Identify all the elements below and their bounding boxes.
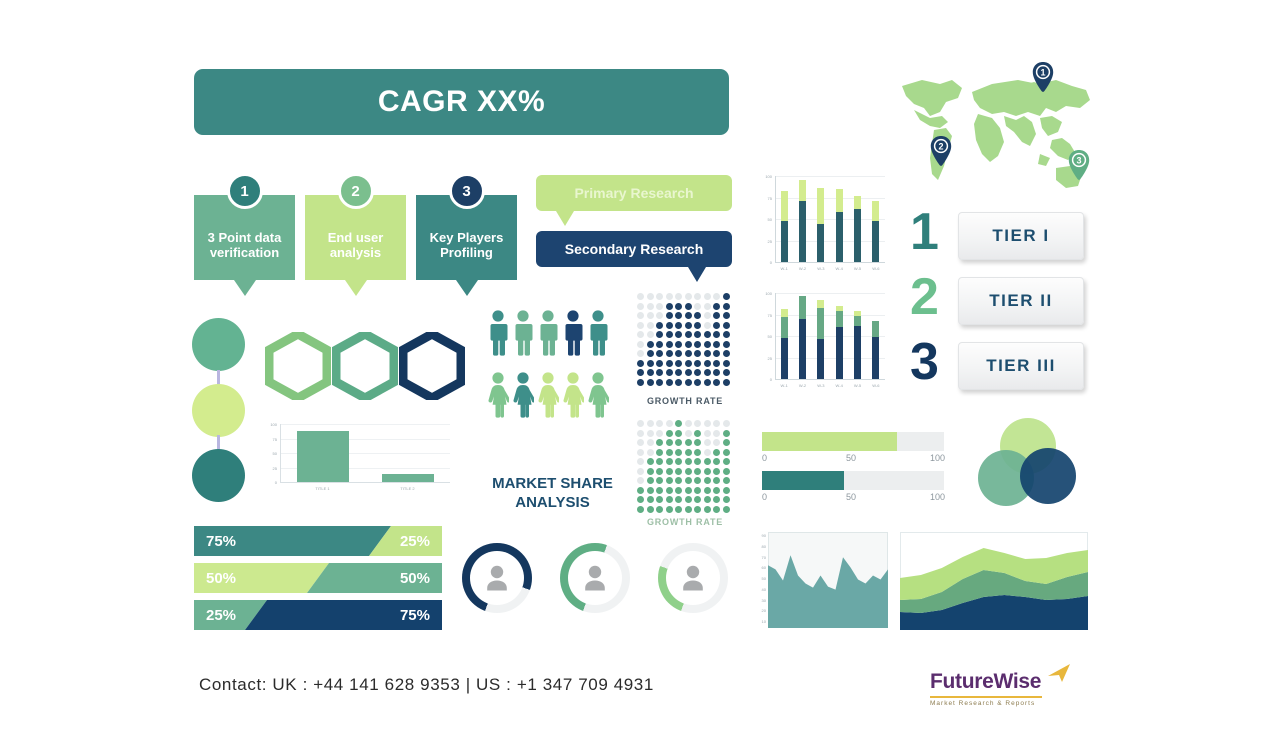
bar-segment [799,201,806,262]
matrix-dot [704,506,711,513]
tier-row-3[interactable]: 3TIER III [910,342,1090,390]
donut-hole [470,551,524,605]
grid-line [775,293,885,294]
matrix-dot [675,439,682,446]
matrix-dot [666,496,673,503]
matrix-dot [656,360,663,367]
matrix-dot [637,458,644,465]
market-share-title: MARKET SHARE ANALYSIS [480,474,625,512]
y-tick: 50 [258,451,277,456]
bar-segment [817,188,824,225]
matrix-dot [713,322,720,329]
matrix-dot [694,439,701,446]
matrix-dot [704,439,711,446]
tier-plate[interactable]: TIER II [958,277,1084,325]
person-icon [512,372,534,423]
matrix-dot [647,331,654,338]
x-tick: W-2 [793,266,811,271]
research-bubble-2: Secondary Research [536,231,732,267]
stacked-area-chart [900,532,1088,632]
slider-group: 050100050100 [762,432,944,502]
matrix-dot [694,331,701,338]
tier-plate[interactable]: TIER I [958,212,1084,260]
matrix-dot [694,477,701,484]
step-tail [456,280,478,296]
matrix-dot [637,439,644,446]
bubble-tail [556,211,574,226]
bar [297,431,349,482]
bar-segment [854,209,861,262]
matrix-dot [713,420,720,427]
matrix-dot [666,360,673,367]
process-steps: 3 Point data verification1End user analy… [194,195,524,310]
matrix-dot [685,420,692,427]
matrix-dot [704,449,711,456]
y-axis [775,293,776,379]
matrix-dot [666,303,673,310]
matrix-dot [675,293,682,300]
matrix-dot [675,379,682,386]
matrix-dot [685,369,692,376]
matrix-dot [675,360,682,367]
matrix-dot [685,350,692,357]
percent-label-right: 75% [400,600,430,630]
x-tick: W-3 [812,383,830,388]
slider-tick: 0 [762,492,767,502]
grid-line [775,176,885,177]
area-series [768,532,888,628]
percent-label-left: 75% [206,526,236,556]
tier-number: 1 [910,206,939,258]
chain-circle-3 [192,449,245,502]
matrix-dot [637,350,644,357]
slider-tick: 100 [930,453,945,463]
hexagon-2 [332,332,398,400]
grid-line [775,336,885,337]
bar-segment [817,339,824,379]
bar-segment [872,221,879,262]
matrix-dot [704,420,711,427]
matrix-dot [637,496,644,503]
y-tick: 50 [755,334,772,339]
slider-fill[interactable] [762,432,897,451]
matrix-dot [656,430,663,437]
matrix-dot [723,312,730,319]
matrix-dot [666,312,673,319]
matrix-dot [685,506,692,513]
x-tick: W-5 [848,266,866,271]
matrix-dot [694,312,701,319]
bar-segment [781,191,788,221]
matrix-dot [675,477,682,484]
matrix-dot [666,458,673,465]
matrix-dot [694,449,701,456]
matrix-dot [647,360,654,367]
donut-hole [666,551,720,605]
matrix-dot [647,430,654,437]
x-tick: W-6 [867,266,885,271]
percent-label-left: 25% [206,600,236,630]
matrix-dot [694,487,701,494]
matrix-dot [666,449,673,456]
matrix-dot [704,430,711,437]
hexagon-group [265,332,470,402]
matrix-dot [666,468,673,475]
matrix-dot [666,506,673,513]
bar-segment [872,337,879,379]
percent-bar-1: 75%25% [194,526,442,556]
matrix-dot [704,322,711,329]
matrix-dot [713,449,720,456]
matrix-dot [656,477,663,484]
matrix-dot [675,458,682,465]
bar [382,474,434,482]
tier-number: 3 [910,336,939,388]
x-tick: W-5 [848,383,866,388]
matrix-dot [656,293,663,300]
stacked-area-series [900,532,1088,630]
step-number-badge: 3 [449,173,485,209]
matrix-dot [675,322,682,329]
matrix-dot [656,322,663,329]
matrix-dot [666,369,673,376]
step-card-3: Key Players Profiling3 [416,195,517,280]
bubble-tail [688,267,706,282]
donut-gauge-1 [462,543,532,613]
matrix-dot [713,430,720,437]
futurewise-logo: FutureWise Market Research & Reports [930,670,1042,707]
matrix-dot [637,293,644,300]
step-tail [234,280,256,296]
matrix-dot [713,487,720,494]
growth-label-2: GROWTH RATE [630,517,740,527]
matrix-dot [666,293,673,300]
matrix-dot [704,341,711,348]
matrix-dot [675,350,682,357]
matrix-dot [637,506,644,513]
matrix-dot [723,360,730,367]
matrix-dot [713,293,720,300]
matrix-dot [647,439,654,446]
matrix-dot [656,303,663,310]
x-axis [775,379,885,380]
matrix-dot [723,477,730,484]
bar-segment [799,319,806,379]
matrix-dot [647,341,654,348]
person-icon [487,310,509,361]
matrix-dot [675,487,682,494]
matrix-dot [694,369,701,376]
world-map: 123 [900,58,1095,203]
logo-name: FutureWise [930,670,1041,693]
matrix-dot [685,331,692,338]
research-label: Primary Research [574,185,693,201]
bar-segment [836,311,843,327]
matrix-dot [666,420,673,427]
y-tick: 50 [755,217,772,222]
y-tick: 10 [752,619,766,624]
growth-label-1: GROWTH RATE [630,396,740,406]
matrix-dot [704,496,711,503]
matrix-dot [685,312,692,319]
matrix-dot [723,379,730,386]
matrix-dot [647,506,654,513]
growth-matrix-1 [637,293,732,393]
matrix-dot [704,379,711,386]
matrix-dot [723,487,730,494]
contact-info: Contact: UK : +44 141 628 9353 | US : +1… [199,675,654,695]
matrix-dot [647,379,654,386]
matrix-dot [694,303,701,310]
matrix-dot [723,439,730,446]
y-tick: 20 [752,608,766,613]
logo-divider [930,696,1042,698]
map-pin-1[interactable]: 1 [1032,62,1054,92]
bar-segment [817,224,824,262]
matrix-dot [647,477,654,484]
y-tick: 100 [755,174,772,179]
tier-row-1[interactable]: 1TIER I [910,212,1090,260]
x-tick: W-3 [812,266,830,271]
hexagon-3 [399,332,465,400]
matrix-dot [694,341,701,348]
matrix-dot [723,496,730,503]
matrix-dot [656,468,663,475]
tier-row-2[interactable]: 2TIER II [910,277,1090,325]
matrix-dot [723,369,730,376]
matrix-dot [723,458,730,465]
matrix-dot [723,303,730,310]
y-tick: 100 [258,422,277,427]
y-tick: 70 [752,555,766,560]
bar-segment [799,296,806,319]
y-tick: 25 [755,239,772,244]
person-icon [562,310,584,361]
matrix-dot [647,369,654,376]
bar-segment [872,321,879,337]
matrix-dot [675,506,682,513]
matrix-dot [704,293,711,300]
y-tick: 75 [755,313,772,318]
bar-segment [836,327,843,379]
person-icon [487,372,509,423]
x-tick: W-4 [830,383,848,388]
map-pin-2[interactable]: 2 [930,136,952,166]
y-tick: 25 [755,356,772,361]
svg-text:1: 1 [1040,68,1045,78]
matrix-dot [637,303,644,310]
chain-circle-1 [192,318,245,371]
matrix-dot [685,303,692,310]
grid-line [775,219,885,220]
x-tick: W-1 [775,266,793,271]
percent-bar-group: 75%25%50%50%25%75% [194,526,442,631]
x-tick: W-1 [775,383,793,388]
person-icon [512,310,534,361]
y-tick: 50 [752,576,766,581]
y-tick: 40 [752,587,766,592]
matrix-dot [694,458,701,465]
matrix-dot [704,458,711,465]
matrix-dot [685,439,692,446]
matrix-dot [723,449,730,456]
matrix-dot [656,496,663,503]
matrix-dot [723,341,730,348]
bar-segment [781,309,788,317]
venn-diagram [978,418,1074,508]
matrix-dot [647,449,654,456]
matrix-dot [675,430,682,437]
bar-segment [872,201,879,221]
slider-tick: 50 [846,453,856,463]
matrix-dot [656,331,663,338]
matrix-dot [713,312,720,319]
matrix-dot [656,420,663,427]
matrix-dot [647,496,654,503]
matrix-dot [675,341,682,348]
x-axis [280,482,450,483]
research-bubble-1: Primary Research [536,175,732,211]
circle-chain [192,318,252,498]
y-tick: 100 [755,291,772,296]
bar-segment [781,221,788,262]
y-tick: 25 [258,466,277,471]
matrix-dot [694,420,701,427]
matrix-dot [713,369,720,376]
matrix-dot [637,379,644,386]
matrix-dot [666,341,673,348]
y-tick: 0 [755,377,772,382]
tier-number: 2 [910,271,939,323]
matrix-dot [637,477,644,484]
matrix-dot [656,458,663,465]
matrix-dot [685,458,692,465]
matrix-dot [713,468,720,475]
donut-group [462,543,732,619]
matrix-dot [685,487,692,494]
matrix-dot [656,449,663,456]
arrow-icon [1048,664,1072,684]
bar-segment [854,316,861,325]
bar-segment [854,196,861,209]
matrix-dot [656,341,663,348]
matrix-dot [704,360,711,367]
matrix-dot [637,322,644,329]
matrix-dot [723,322,730,329]
x-tick: W-6 [867,383,885,388]
svg-text:2: 2 [938,142,943,152]
matrix-dot [637,420,644,427]
matrix-dot [666,430,673,437]
percent-label-right: 50% [400,563,430,593]
y-axis [280,424,281,482]
matrix-dot [704,303,711,310]
logo-tagline: Market Research & Reports [930,700,1042,707]
matrix-dot [685,379,692,386]
cagr-banner: CAGR XX% [194,69,729,135]
matrix-dot [704,312,711,319]
growth-matrix-2 [637,420,732,520]
y-tick: 75 [755,196,772,201]
x-tick: TITLE 1 [297,486,349,491]
matrix-dot [666,477,673,484]
bar-segment [817,308,824,339]
matrix-dot [694,496,701,503]
slider-tick: 0 [762,453,767,463]
matrix-dot [694,360,701,367]
matrix-dot [713,458,720,465]
matrix-dot [675,420,682,427]
bar-segment [854,326,861,379]
map-pin-3[interactable]: 3 [1068,150,1090,180]
matrix-dot [713,477,720,484]
matrix-dot [666,487,673,494]
matrix-dot [647,468,654,475]
matrix-dot [647,312,654,319]
matrix-dot [723,350,730,357]
matrix-dot [685,293,692,300]
tier-plate[interactable]: TIER III [958,342,1084,390]
matrix-dot [637,312,644,319]
matrix-dot [675,449,682,456]
matrix-dot [694,468,701,475]
step-number-badge: 2 [338,173,374,209]
slider-tick: 50 [846,492,856,502]
matrix-dot [713,303,720,310]
slider-tick: 100 [930,492,945,502]
matrix-dot [685,477,692,484]
tier-label: TIER III [986,356,1056,376]
matrix-dot [647,458,654,465]
slider-fill[interactable] [762,471,844,490]
matrix-dot [647,303,654,310]
matrix-dot [656,312,663,319]
matrix-dot [666,439,673,446]
matrix-dot [637,430,644,437]
matrix-dot [637,331,644,338]
donut-hole [568,551,622,605]
world-map-svg [900,58,1095,203]
tier-list: 1TIER I2TIER II3TIER III [910,212,1090,397]
matrix-dot [675,303,682,310]
y-tick: 75 [258,437,277,442]
hexagon-1 [265,332,331,400]
matrix-dot [656,506,663,513]
matrix-dot [647,350,654,357]
matrix-dot [666,322,673,329]
person-icon [537,372,559,423]
matrix-dot [685,341,692,348]
bar-segment [836,212,843,262]
matrix-dot [723,430,730,437]
matrix-dot [704,487,711,494]
bar-segment [836,189,843,212]
grid-line [775,198,885,199]
matrix-dot [704,350,711,357]
cagr-label: CAGR XX% [378,85,545,119]
matrix-dot [637,468,644,475]
matrix-dot [694,506,701,513]
svg-text:3: 3 [1076,156,1081,166]
matrix-dot [713,350,720,357]
matrix-dot [713,496,720,503]
x-tick: W-2 [793,383,811,388]
y-axis [775,176,776,262]
bar-segment [854,311,861,316]
matrix-dot [675,468,682,475]
matrix-dot [685,449,692,456]
matrix-dot [685,468,692,475]
